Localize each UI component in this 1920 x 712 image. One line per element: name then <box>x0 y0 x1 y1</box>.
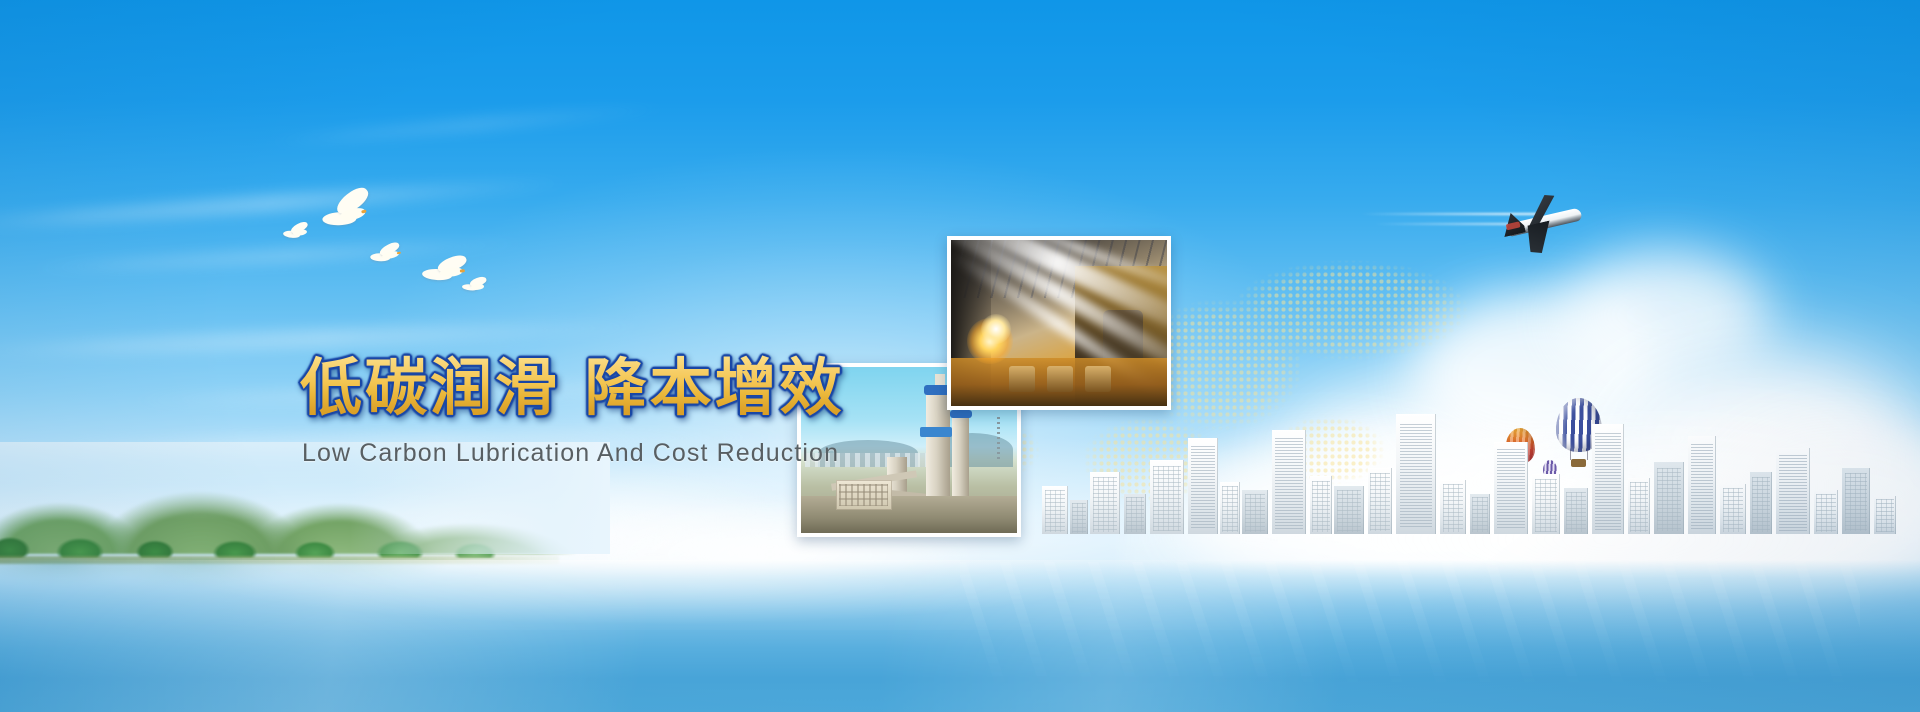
dove-icon <box>368 241 405 269</box>
city-skyline <box>1020 414 1920 534</box>
page-subtitle: Low Carbon Lubrication And Cost Reductio… <box>302 439 1060 468</box>
hero-banner: 低碳润滑 降本增效 Low Carbon Lubrication And Cos… <box>0 0 1920 712</box>
water-light-rays <box>960 562 1860 712</box>
page-title: 低碳润滑 降本增效 <box>300 355 1060 421</box>
hero-text-block: 低碳润滑 降本增效 Low Carbon Lubrication And Cos… <box>300 355 1060 468</box>
dove-icon <box>314 189 382 242</box>
dove-icon <box>420 253 473 292</box>
contrail <box>1360 205 1540 235</box>
dove-icon <box>282 222 312 244</box>
dove-icon <box>461 277 488 296</box>
airplane-icon <box>1494 183 1591 261</box>
cirrus-streak <box>0 174 580 235</box>
cirrus-streak <box>260 102 679 149</box>
cirrus-streak <box>20 236 540 275</box>
